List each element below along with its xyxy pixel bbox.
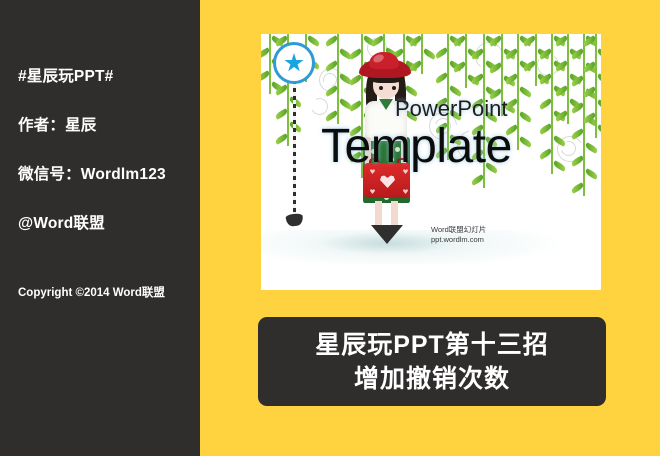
vine-leaf	[518, 111, 532, 122]
copyright-text: Copyright ©2014 Word联盟	[18, 284, 165, 300]
shoes	[371, 225, 403, 244]
vine-stem	[567, 34, 569, 124]
vine-leaf	[584, 169, 598, 180]
sidebar-panel: #星辰玩PPT# 作者：星辰 微信号：Wordlm123 @Word联盟 Cop…	[0, 0, 200, 456]
vine-leaf	[596, 48, 601, 59]
banner-line-2: 增加撤销次数	[354, 362, 510, 396]
watermark-line-2: ppt.wordlm.com	[431, 235, 486, 245]
eye-right	[392, 86, 396, 90]
lamp-post-base	[285, 213, 303, 227]
slide-preview-image: PowerPoint Template Word联盟幻灯片 ppt.wordlm…	[261, 34, 601, 290]
vine-leaf	[596, 125, 601, 136]
slide-heading-large: Template	[321, 119, 512, 174]
vine-stem	[595, 34, 597, 138]
sidebar-line-hashtag: #星辰玩PPT#	[18, 64, 114, 86]
watermark: Word联盟幻灯片 ppt.wordlm.com	[431, 225, 486, 245]
sidebar-line-wechat: 微信号：Wordlm123	[18, 162, 166, 184]
vine-leaf	[596, 99, 601, 110]
vine-stem	[551, 34, 553, 174]
watermark-line-1: Word联盟幻灯片	[431, 225, 486, 235]
eye-left	[379, 86, 383, 90]
vine-stem	[535, 34, 537, 86]
vine-stem	[465, 34, 467, 88]
vine-leaf	[596, 74, 601, 85]
vine-leaf	[518, 137, 532, 148]
vine-leaf	[422, 48, 436, 59]
poster-canvas: #星辰玩PPT# 作者：星辰 微信号：Wordlm123 @Word联盟 Cop…	[0, 0, 660, 456]
sidebar-line-handle: @Word联盟	[18, 211, 105, 233]
vine-stem	[337, 34, 339, 124]
vine-leaf	[518, 86, 532, 97]
leg-right	[391, 201, 398, 229]
vine-leaf	[306, 35, 320, 46]
banner-line-1: 星辰玩PPT第十三招	[315, 328, 549, 362]
vine-leaf	[448, 85, 462, 96]
vine-leaf	[584, 142, 598, 153]
title-banner: 星辰玩PPT第十三招 增加撤销次数	[258, 317, 606, 406]
lamp-post	[293, 64, 296, 219]
sidebar-line-author: 作者：星辰	[18, 113, 97, 135]
vine-leaf	[552, 161, 566, 172]
leg-left	[375, 201, 382, 229]
